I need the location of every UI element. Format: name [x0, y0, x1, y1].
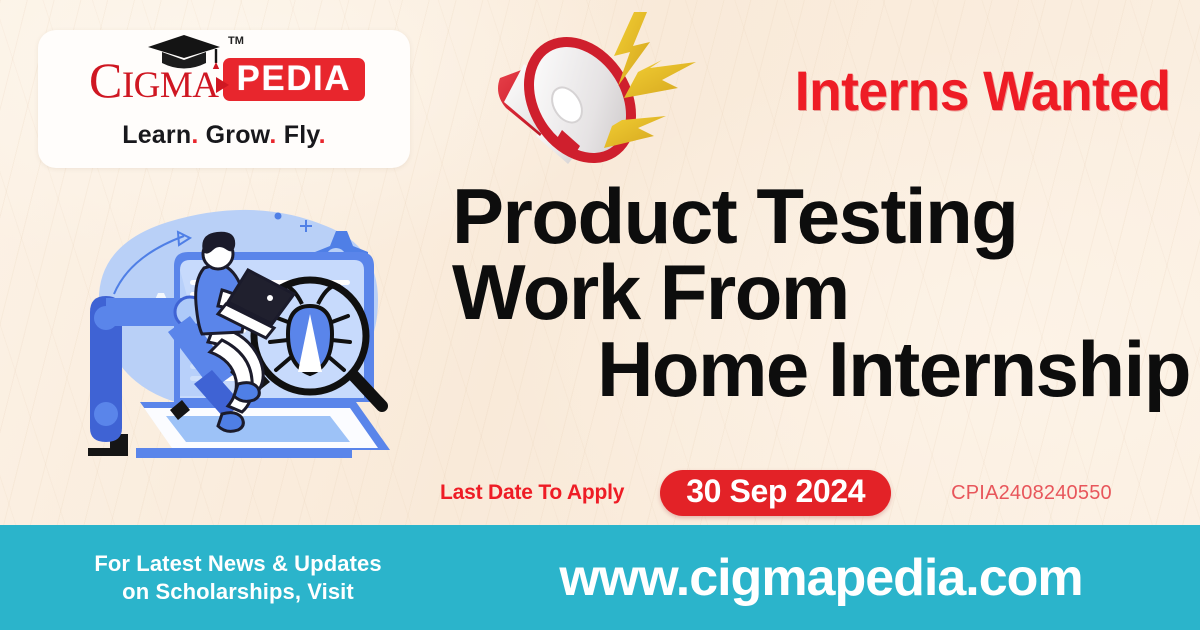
logo-cigma-text: CIGMA [83, 55, 219, 105]
logo-pedia-badge: PEDIA [223, 58, 365, 102]
megaphone-icon [488, 8, 718, 183]
headline-line-2: Work From [452, 254, 1190, 330]
website-url[interactable]: www.cigmapedia.com [460, 548, 1200, 608]
footer-bar: For Latest News & Updates on Scholarship… [0, 525, 1200, 630]
banner-canvas: TM CIGMA PEDIA Learn. Grow. Fly. [0, 0, 1200, 630]
last-date-label: Last Date To Apply [440, 481, 624, 505]
trademark-icon: TM [228, 35, 244, 47]
tagline-dot-1: . [191, 121, 198, 149]
laptop-front-lip [136, 448, 352, 458]
logo-wordmark-row: TM CIGMA PEDIA [38, 49, 410, 111]
brand-logo-card[interactable]: TM CIGMA PEDIA Learn. Grow. Fly. [38, 30, 410, 168]
logo-arrow-icon [216, 77, 229, 93]
tagline-word-3: Fly [284, 121, 319, 149]
apply-deadline-row: Last Date To Apply 30 Sep 2024 CPIA24082… [440, 470, 1188, 516]
software-testing-illustration [62, 176, 428, 512]
reference-code: CPIA2408240550 [951, 482, 1112, 505]
tagline-dot-2: . [269, 121, 276, 149]
interns-wanted-callout: Interns Wanted [794, 58, 1170, 123]
footer-promo-line-2: on Scholarships, Visit [16, 578, 460, 606]
page-title: Product Testing Work From Home Internshi… [452, 178, 1190, 407]
footer-promo-line-1: For Latest News & Updates [16, 550, 460, 578]
tagline-word-1: Learn [122, 121, 191, 149]
tagline-dot-3: . [319, 121, 326, 149]
footer-promo-text: For Latest News & Updates on Scholarship… [0, 550, 460, 605]
last-date-badge: 30 Sep 2024 [660, 470, 891, 516]
brand-tagline: Learn. Grow. Fly. [122, 121, 326, 150]
laptop-trackpad [166, 416, 350, 442]
headline-line-1: Product Testing [452, 172, 1017, 260]
tagline-word-2: Grow [206, 121, 270, 149]
dot-accent [275, 213, 282, 220]
headline-line-3: Home Internship [452, 331, 1190, 407]
